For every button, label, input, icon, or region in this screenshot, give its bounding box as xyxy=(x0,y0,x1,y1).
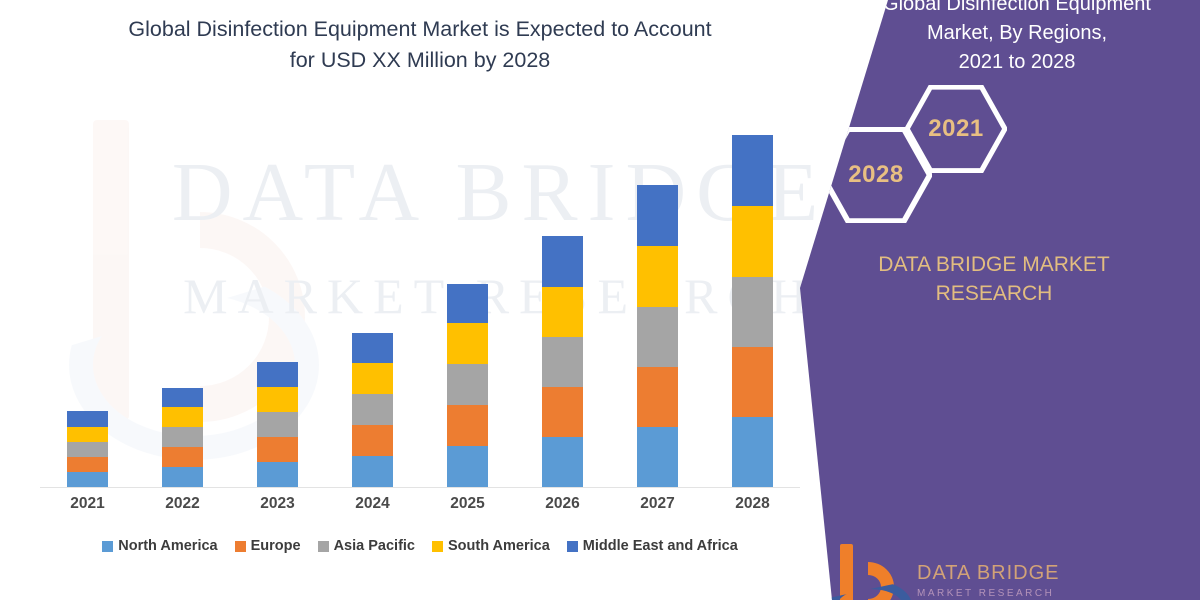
corner-logo: DATA BRIDGE MARKET RESEARCH xyxy=(822,540,1052,600)
stacked-bar-2025[interactable] xyxy=(447,284,488,487)
legend-label: Asia Pacific xyxy=(334,538,415,554)
stacked-bar-2023[interactable] xyxy=(257,362,298,487)
bar-segment[interactable] xyxy=(257,387,298,412)
bar-segment[interactable] xyxy=(257,412,298,437)
x-axis-label-2025: 2025 xyxy=(420,495,515,513)
x-axis-label-2024: 2024 xyxy=(325,495,420,513)
bar-segment[interactable] xyxy=(447,446,488,487)
bar-segment[interactable] xyxy=(352,394,393,425)
bar-segment[interactable] xyxy=(447,364,488,405)
bar-segment[interactable] xyxy=(447,284,488,323)
bar-segment[interactable] xyxy=(542,337,583,387)
x-axis-line xyxy=(40,487,800,488)
hexagon-badge-2021: 2021 xyxy=(905,85,1007,173)
bar-segment[interactable] xyxy=(352,456,393,487)
chart-title-line-2: for USD XX Million by 2028 xyxy=(60,45,780,76)
bar-segment[interactable] xyxy=(67,457,108,472)
bar-slot xyxy=(230,95,325,487)
bar-segment[interactable] xyxy=(732,417,773,487)
chart-title: Global Disinfection Equipment Market is … xyxy=(60,14,780,76)
stacked-bar-2027[interactable] xyxy=(637,185,678,487)
bar-segment[interactable] xyxy=(67,442,108,457)
bar-slot xyxy=(40,95,135,487)
corner-logo-primary-text: DATA BRIDGE xyxy=(917,562,1060,585)
bar-segment[interactable] xyxy=(257,462,298,487)
stacked-bar-2028[interactable] xyxy=(732,135,773,487)
legend-label: North America xyxy=(118,538,217,554)
x-axis-label-2028: 2028 xyxy=(705,495,800,513)
corner-logo-stem xyxy=(840,544,853,600)
panel-title-line-2: Market, By Regions, xyxy=(852,19,1182,48)
x-axis-label-2026: 2026 xyxy=(515,495,610,513)
brand-line-2: RESEARCH xyxy=(800,279,1188,308)
bar-segment[interactable] xyxy=(447,323,488,364)
bar-group xyxy=(40,95,800,487)
bar-slot xyxy=(515,95,610,487)
bar-segment[interactable] xyxy=(542,437,583,487)
legend-swatch-icon xyxy=(102,541,113,552)
legend-swatch-icon xyxy=(432,541,443,552)
stacked-bar-2021[interactable] xyxy=(67,411,108,487)
x-axis-labels: 20212022202320242025202620272028 xyxy=(40,495,800,513)
bar-segment[interactable] xyxy=(732,135,773,206)
legend-swatch-icon xyxy=(567,541,578,552)
bar-segment[interactable] xyxy=(162,388,203,407)
brand-line-1: DATA BRIDGE MARKET xyxy=(800,250,1188,279)
chart-title-line-1: Global Disinfection Equipment Market is … xyxy=(60,14,780,45)
legend-swatch-icon xyxy=(318,541,329,552)
legend-item[interactable]: South America xyxy=(432,538,550,554)
x-axis-label-2022: 2022 xyxy=(135,495,230,513)
legend-swatch-icon xyxy=(235,541,246,552)
bar-segment[interactable] xyxy=(542,387,583,437)
panel-title: Global Disinfection Equipment Market, By… xyxy=(852,0,1182,77)
chart-plot-area xyxy=(40,95,800,487)
legend-label: Europe xyxy=(251,538,301,554)
bar-segment[interactable] xyxy=(162,447,203,467)
stacked-bar-2024[interactable] xyxy=(352,333,393,487)
bar-segment[interactable] xyxy=(162,407,203,427)
corner-logo-secondary-text: MARKET RESEARCH xyxy=(917,588,1054,599)
hexagon-label-2028: 2028 xyxy=(848,161,903,189)
legend-item[interactable]: Europe xyxy=(235,538,301,554)
bar-segment[interactable] xyxy=(352,425,393,456)
brand-name: DATA BRIDGE MARKET RESEARCH xyxy=(800,250,1200,309)
stacked-bar-2022[interactable] xyxy=(162,388,203,487)
x-axis-label-2023: 2023 xyxy=(230,495,325,513)
bar-slot xyxy=(135,95,230,487)
bar-segment[interactable] xyxy=(637,307,678,367)
bar-segment[interactable] xyxy=(637,427,678,487)
legend-label: South America xyxy=(448,538,550,554)
bar-segment[interactable] xyxy=(67,472,108,487)
bar-segment[interactable] xyxy=(447,405,488,446)
bar-segment[interactable] xyxy=(67,427,108,442)
bar-segment[interactable] xyxy=(732,277,773,347)
x-axis-label-2027: 2027 xyxy=(610,495,705,513)
right-panel: Global Disinfection Equipment Market, By… xyxy=(800,0,1200,600)
hexagon-group: 2028 2021 xyxy=(800,95,1200,225)
bar-slot xyxy=(610,95,705,487)
panel-title-line-3: 2021 to 2028 xyxy=(852,48,1182,77)
bar-segment[interactable] xyxy=(637,246,678,307)
bar-segment[interactable] xyxy=(542,236,583,287)
x-axis-label-2021: 2021 xyxy=(40,495,135,513)
panel-title-line-1: Global Disinfection Equipment xyxy=(852,0,1182,19)
bar-segment[interactable] xyxy=(257,362,298,387)
bar-segment[interactable] xyxy=(542,287,583,337)
legend-item[interactable]: Middle East and Africa xyxy=(567,538,738,554)
bar-segment[interactable] xyxy=(67,411,108,427)
bar-slot xyxy=(420,95,515,487)
bar-segment[interactable] xyxy=(257,437,298,462)
hexagon-label-2021: 2021 xyxy=(928,115,983,143)
bar-slot xyxy=(705,95,800,487)
infographic-canvas: DATA BRIDGE MARKET RESEARCH Global Disin… xyxy=(0,0,1200,600)
bar-segment[interactable] xyxy=(352,363,393,394)
bar-slot xyxy=(325,95,420,487)
bar-segment[interactable] xyxy=(162,427,203,447)
legend-item[interactable]: Asia Pacific xyxy=(318,538,415,554)
bar-segment[interactable] xyxy=(637,367,678,427)
bar-segment[interactable] xyxy=(732,206,773,277)
legend-item[interactable]: North America xyxy=(102,538,217,554)
stacked-bar-2026[interactable] xyxy=(542,236,583,487)
bar-segment[interactable] xyxy=(352,333,393,363)
bar-segment[interactable] xyxy=(732,347,773,417)
bar-segment[interactable] xyxy=(162,467,203,487)
bar-segment[interactable] xyxy=(637,185,678,246)
legend-label: Middle East and Africa xyxy=(583,538,738,554)
chart-legend: North AmericaEuropeAsia PacificSouth Ame… xyxy=(40,538,800,554)
